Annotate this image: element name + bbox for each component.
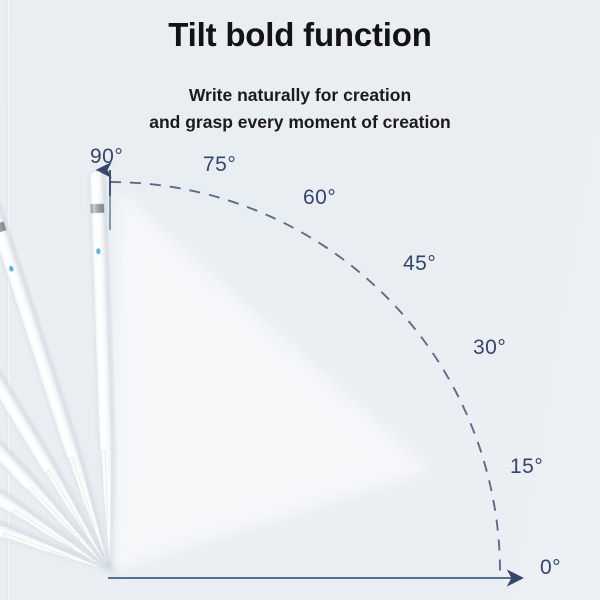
stylus-pen-fan: [0, 171, 117, 577]
fan-glow: [110, 190, 430, 572]
angle-label-15: 15°: [510, 455, 543, 479]
angle-label-60: 60°: [303, 186, 336, 210]
angle-label-90: 90°: [90, 145, 123, 169]
angle-label-0: 0°: [540, 556, 561, 580]
angle-label-30: 30°: [473, 336, 506, 360]
angle-label-75: 75°: [203, 153, 236, 177]
diagram-stage: Tilt bold function Write naturally for c…: [0, 0, 600, 600]
angle-label-45: 45°: [403, 252, 436, 276]
tilt-angle-diagram: [0, 0, 600, 600]
pen-grip-band: [90, 204, 104, 213]
